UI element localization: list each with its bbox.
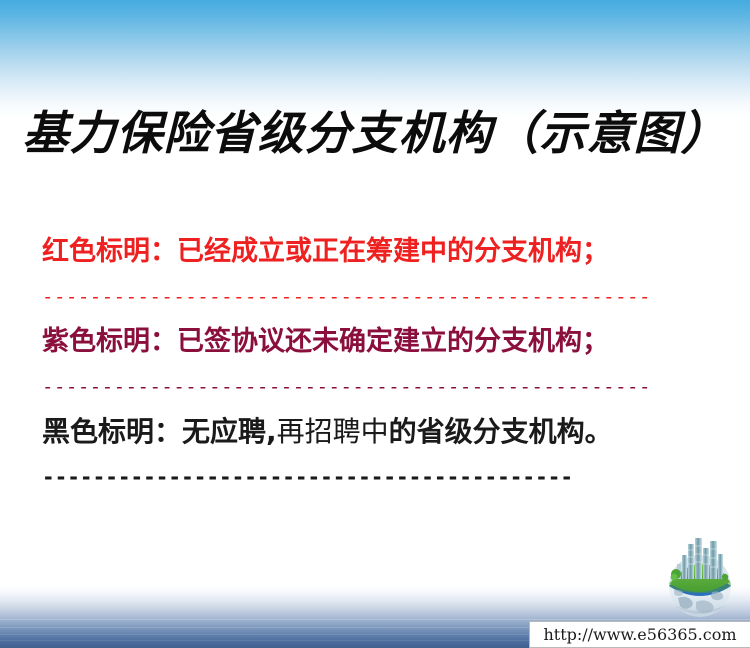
water-ripple (0, 619, 750, 620)
legend-item-black: 黑色标明：无应聘,再招聘中的省级分支机构。 (42, 412, 682, 452)
legend-description-purple: 已签协议还未确定建立的分支机构； (177, 326, 609, 357)
spacer (42, 398, 682, 412)
legend-label-purple: 紫色标明： (42, 326, 177, 357)
legend-description-black-light: 再招聘中 (277, 415, 389, 448)
legend-description-black-part1: 无应聘, (182, 415, 277, 448)
legend-description-red: 已经成立或正在筹建中的分支机构； (177, 236, 609, 267)
legend-divider-red: ----------------------------------------… (42, 286, 654, 308)
spacer (42, 452, 682, 466)
tree-icon (722, 574, 728, 580)
spacer (42, 362, 682, 376)
slide-canvas: 基力保险省级分支机构（示意图） 红色标明：已经成立或正在筹建中的分支机构； --… (0, 0, 750, 648)
tree-icon (671, 574, 678, 581)
slide-title: 基力保险省级分支机构（示意图） (0, 104, 750, 162)
legend-item-purple: 紫色标明：已签协议还未确定建立的分支机构； (42, 322, 682, 362)
legend-divider-black: ----------------------------------------… (42, 466, 654, 488)
legend-label-black: 黑色标明： (42, 415, 182, 448)
legend-label-red: 红色标明： (42, 236, 177, 267)
legend-item-red: 红色标明：已经成立或正在筹建中的分支机构； (42, 232, 682, 272)
legend-block: 红色标明：已经成立或正在筹建中的分支机构； ------------------… (42, 232, 682, 488)
legend-description-black-part2: 的省级分支机构。 (389, 415, 613, 448)
sky-gradient-band (0, 0, 750, 118)
legend-divider-purple: ----------------------------------------… (42, 376, 654, 398)
city-skyline (677, 538, 723, 579)
spacer (42, 272, 682, 286)
globe-city-logo (652, 524, 748, 620)
spacer (42, 308, 682, 322)
globe-icon (652, 524, 748, 620)
watermark-url: http://www.e56365.com (529, 621, 750, 648)
